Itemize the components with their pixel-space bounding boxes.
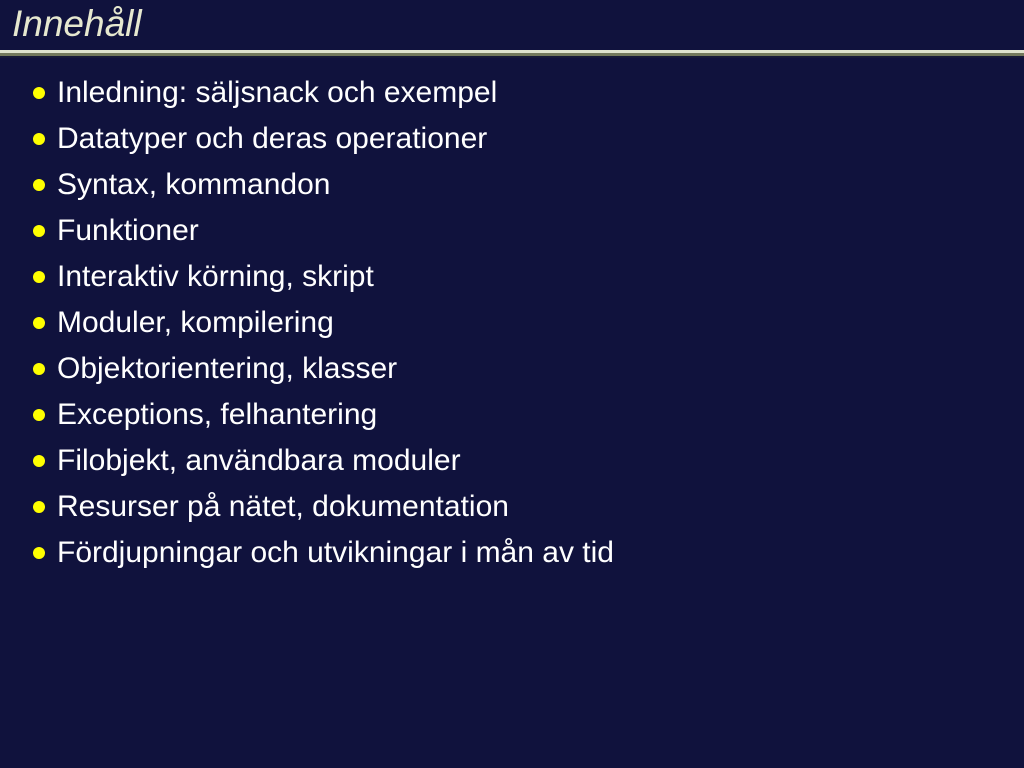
list-item-label: Fördjupningar och utvikningar i mån av t… bbox=[57, 536, 614, 570]
list-item: Exceptions, felhantering bbox=[0, 392, 1024, 438]
list-item-label: Filobjekt, användbara moduler bbox=[57, 444, 461, 478]
list-item: Syntax, kommandon bbox=[0, 162, 1024, 208]
bullet-list: Inledning: säljsnack och exempelDatatype… bbox=[0, 70, 1024, 576]
list-item-label: Inledning: säljsnack och exempel bbox=[57, 76, 497, 110]
bullet-dot-icon bbox=[33, 547, 45, 559]
bullet-dot-icon bbox=[33, 271, 45, 283]
list-item-label: Datatyper och deras operationer bbox=[57, 122, 487, 156]
divider-line-dark bbox=[0, 56, 1024, 58]
bullet-dot-icon bbox=[33, 409, 45, 421]
list-item-label: Syntax, kommandon bbox=[57, 168, 330, 202]
list-item-label: Funktioner bbox=[57, 214, 199, 248]
bullet-dot-icon bbox=[33, 133, 45, 145]
bullet-dot-icon bbox=[33, 87, 45, 99]
list-item: Inledning: säljsnack och exempel bbox=[0, 70, 1024, 116]
slide-content: Inledning: säljsnack och exempelDatatype… bbox=[0, 70, 1024, 576]
list-item: Fördjupningar och utvikningar i mån av t… bbox=[0, 530, 1024, 576]
bullet-dot-icon bbox=[33, 225, 45, 237]
presentation-slide: Innehåll Inledning: säljsnack och exempe… bbox=[0, 0, 1024, 768]
list-item: Resurser på nätet, dokumentation bbox=[0, 484, 1024, 530]
list-item-label: Interaktiv körning, skript bbox=[57, 260, 374, 294]
list-item-label: Moduler, kompilering bbox=[57, 306, 334, 340]
list-item: Interaktiv körning, skript bbox=[0, 254, 1024, 300]
list-item: Datatyper och deras operationer bbox=[0, 116, 1024, 162]
list-item-label: Resurser på nätet, dokumentation bbox=[57, 490, 509, 524]
list-item: Objektorientering, klasser bbox=[0, 346, 1024, 392]
list-item: Moduler, kompilering bbox=[0, 300, 1024, 346]
list-item: Funktioner bbox=[0, 208, 1024, 254]
list-item-label: Objektorientering, klasser bbox=[57, 352, 397, 386]
bullet-dot-icon bbox=[33, 501, 45, 513]
bullet-dot-icon bbox=[33, 179, 45, 191]
title-divider bbox=[0, 50, 1024, 58]
bullet-dot-icon bbox=[33, 455, 45, 467]
list-item-label: Exceptions, felhantering bbox=[57, 398, 377, 432]
page-title: Innehåll bbox=[12, 2, 142, 46]
bullet-dot-icon bbox=[33, 317, 45, 329]
list-item: Filobjekt, användbara moduler bbox=[0, 438, 1024, 484]
bullet-dot-icon bbox=[33, 363, 45, 375]
